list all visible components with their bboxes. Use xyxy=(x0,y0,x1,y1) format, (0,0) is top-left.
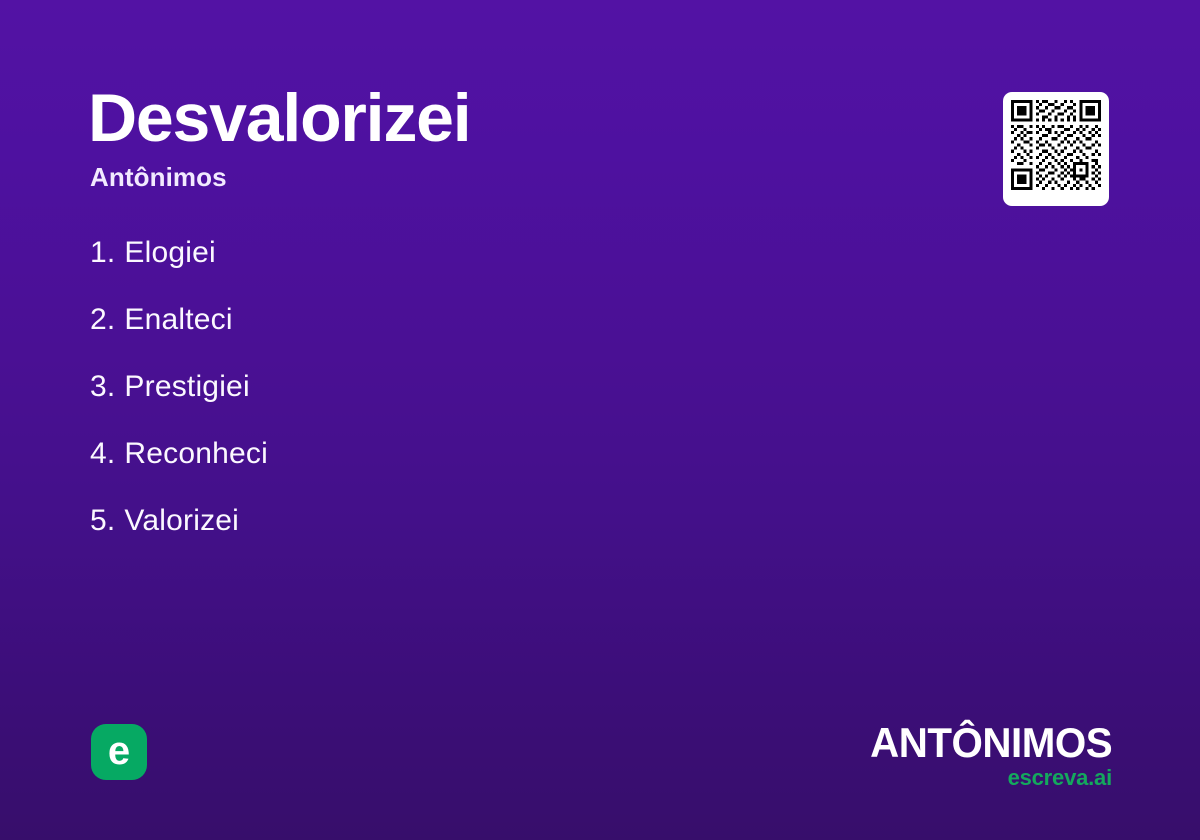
list-item-index: 4. xyxy=(90,437,115,471)
list-item: 3. Prestigiei xyxy=(90,370,790,437)
list-item: 1. Elogiei xyxy=(90,236,790,303)
brand-badge-letter: e xyxy=(108,731,130,771)
antonym-list: 1. Elogiei 2. Enalteci 3. Prestigiei 4. … xyxy=(90,236,790,571)
headline-block: Desvalorizei Antônimos xyxy=(88,84,948,193)
list-item-index: 2. xyxy=(90,303,115,337)
list-item-word: Elogiei xyxy=(124,236,215,270)
qr-code-card[interactable] xyxy=(1003,92,1109,206)
list-item-index: 3. xyxy=(90,370,115,404)
list-item-word: Reconheci xyxy=(124,437,268,471)
antonyms-card: Desvalorizei Antônimos 1. Elogiei 2. Ena… xyxy=(0,0,1200,840)
brand-wordmark: ANTÔNIMOS escreva.ai xyxy=(860,722,1112,789)
wordmark-domain: escreva.ai xyxy=(860,767,1112,789)
list-item: 5. Valorizei xyxy=(90,504,790,571)
list-item-index: 1. xyxy=(90,236,115,270)
list-item-word: Valorizei xyxy=(124,504,239,538)
qr-code-icon xyxy=(1011,100,1101,190)
wordmark-title: ANTÔNIMOS xyxy=(870,722,1112,764)
list-item-index: 5. xyxy=(90,504,115,538)
list-item: 4. Reconheci xyxy=(90,437,790,504)
list-item: 2. Enalteci xyxy=(90,303,790,370)
list-item-word: Prestigiei xyxy=(124,370,249,404)
page-subtitle: Antônimos xyxy=(90,162,948,193)
escreva-e-icon[interactable]: e xyxy=(91,724,147,780)
list-item-word: Enalteci xyxy=(124,303,232,337)
page-title: Desvalorizei xyxy=(88,84,948,153)
